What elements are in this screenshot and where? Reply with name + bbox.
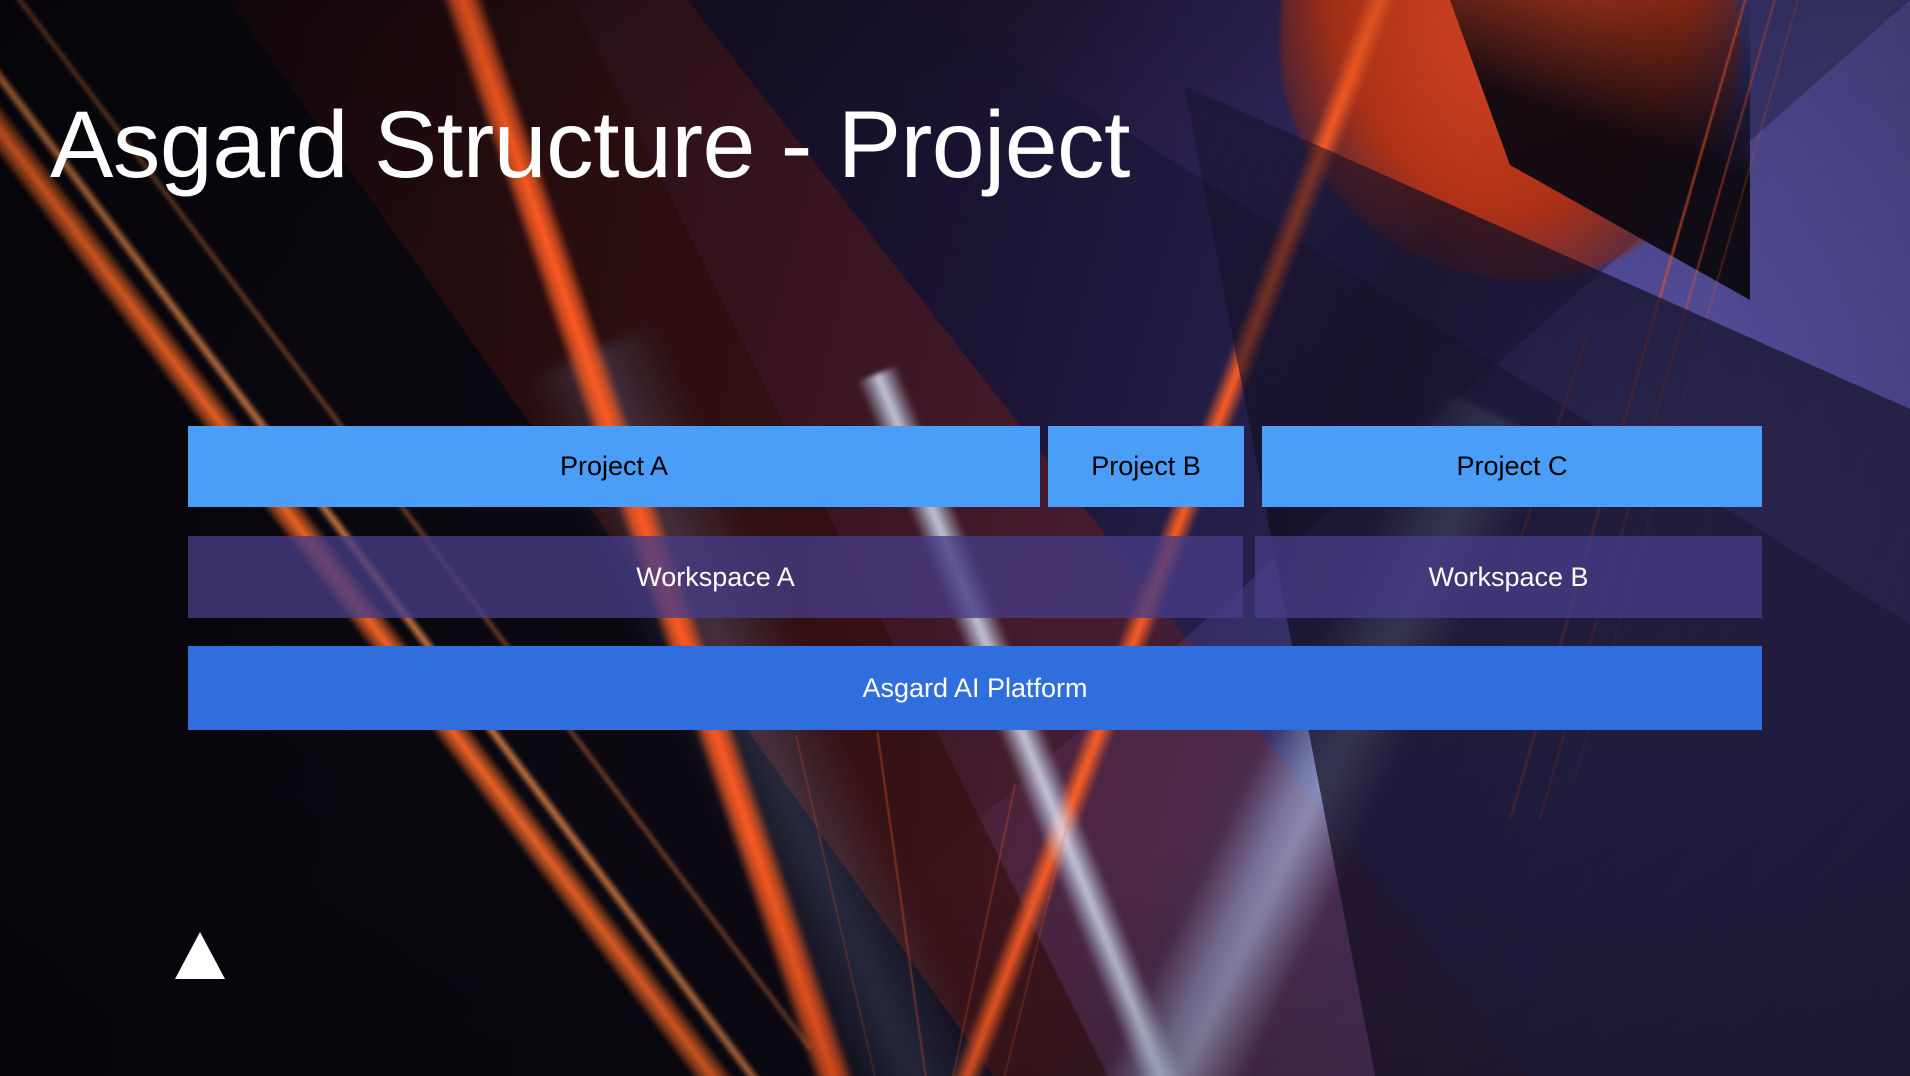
triangle-up-icon[interactable] bbox=[175, 932, 225, 979]
background-red-streak-5 bbox=[946, 783, 1017, 1076]
architecture-diagram: Project A Project B Project C Workspace … bbox=[188, 426, 1762, 730]
node-asgard-ai-platform[interactable]: Asgard AI Platform bbox=[188, 646, 1762, 730]
node-gap bbox=[1243, 536, 1255, 618]
node-workspace-a[interactable]: Workspace A bbox=[188, 536, 1243, 618]
background-red-streak-7 bbox=[876, 732, 937, 1076]
node-project-a[interactable]: Project A bbox=[188, 426, 1040, 507]
node-workspace-b[interactable]: Workspace B bbox=[1255, 536, 1762, 618]
node-gap bbox=[1040, 426, 1048, 507]
background-red-streak-8 bbox=[795, 735, 887, 1076]
background-red-streak-6 bbox=[999, 765, 1083, 1076]
slide-canvas: Asgard Structure - Project Project A Pro… bbox=[0, 0, 1910, 1076]
diagram-row-workspaces: Workspace A Workspace B bbox=[188, 536, 1762, 618]
node-project-c[interactable]: Project C bbox=[1262, 426, 1762, 507]
diagram-row-projects: Project A Project B Project C bbox=[188, 426, 1762, 507]
node-gap bbox=[1244, 426, 1262, 507]
node-project-b[interactable]: Project B bbox=[1048, 426, 1244, 507]
diagram-row-platform: Asgard AI Platform bbox=[188, 646, 1762, 730]
page-title: Asgard Structure - Project bbox=[50, 98, 1130, 193]
